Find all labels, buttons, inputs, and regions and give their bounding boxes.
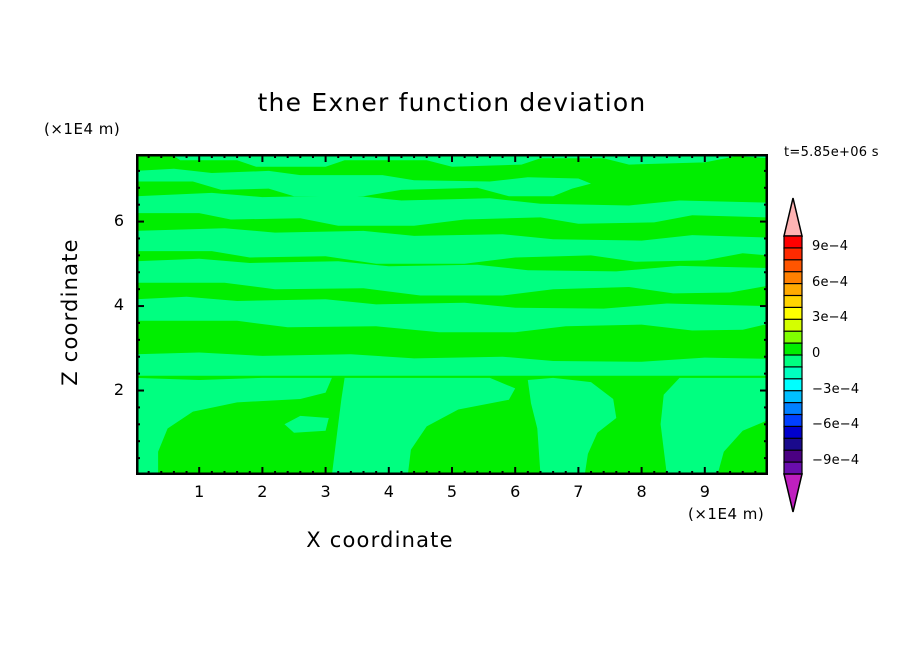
colorbar-band xyxy=(784,236,802,248)
x-tick-label: 8 xyxy=(622,482,662,501)
time-annotation: t=5.85e+06 s xyxy=(784,145,879,160)
colorbar-band xyxy=(784,307,802,319)
colorbar-band xyxy=(784,450,802,462)
colorbar-band xyxy=(784,415,802,427)
contour-field xyxy=(136,154,768,475)
y-tick-label: 4 xyxy=(96,295,124,314)
x-tick-label: 4 xyxy=(369,482,409,501)
colorbar: 9e−46e−43e−40−3e−4−6e−4−9e−4 xyxy=(780,196,900,516)
x-tick-label: 1 xyxy=(179,482,219,501)
colorbar-tick-label: 9e−4 xyxy=(812,239,848,254)
colorbar-band xyxy=(784,260,802,272)
colorbar-band xyxy=(784,319,802,331)
colorbar-band xyxy=(784,462,802,474)
colorbar-band xyxy=(784,343,802,355)
y-tick-label: 6 xyxy=(96,211,124,230)
colorbar-band xyxy=(784,248,802,260)
x-tick-label: 6 xyxy=(495,482,535,501)
colorbar-band xyxy=(784,403,802,415)
x-tick-label: 5 xyxy=(432,482,472,501)
x-tick-label: 2 xyxy=(242,482,282,501)
colorbar-band xyxy=(784,331,802,343)
colorbar-band xyxy=(784,391,802,403)
x-tick-label: 7 xyxy=(558,482,598,501)
colorbar-tick-label: −3e−4 xyxy=(812,382,859,397)
x-axis-unit-label: (×1E4 m) xyxy=(688,505,764,523)
colorbar-band xyxy=(784,272,802,284)
colorbar-tick-label: 6e−4 xyxy=(812,275,848,290)
colorbar-band xyxy=(784,284,802,296)
colorbar-tick-label: −9e−4 xyxy=(812,453,859,468)
colorbar-band xyxy=(784,426,802,438)
colorbar-tick-label: 3e−4 xyxy=(812,310,848,325)
colorbar-bottom-arrow xyxy=(784,474,802,512)
colorbar-tick-label: −6e−4 xyxy=(812,417,859,432)
y-axis-title: Z coordinate xyxy=(58,212,82,412)
colorbar-band xyxy=(784,355,802,367)
x-tick-label: 3 xyxy=(306,482,346,501)
colorbar-band xyxy=(784,296,802,308)
colorbar-top-arrow xyxy=(784,198,802,236)
page-title: the Exner function deviation xyxy=(0,88,904,117)
y-axis-unit-label: (×1E4 m) xyxy=(44,120,120,138)
colorbar-tick-label: 0 xyxy=(812,346,820,361)
colorbar-band xyxy=(784,438,802,450)
x-tick-label: 9 xyxy=(685,482,725,501)
contour-plot-panel xyxy=(136,154,768,475)
colorbar-band xyxy=(784,379,802,391)
y-tick-label: 2 xyxy=(96,380,124,399)
x-axis-title: X coordinate xyxy=(0,528,760,552)
colorbar-band xyxy=(784,367,802,379)
